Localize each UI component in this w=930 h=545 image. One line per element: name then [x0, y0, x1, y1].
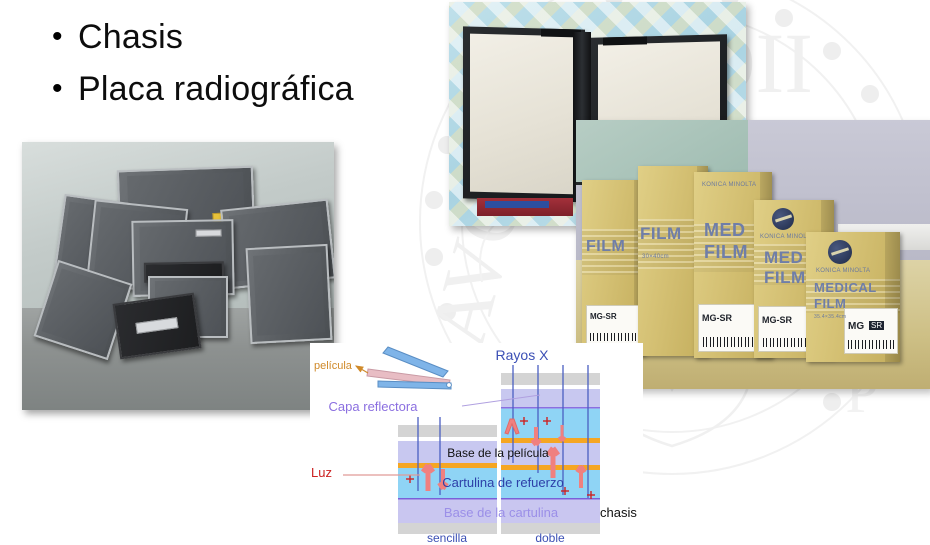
film-box-label: MG SR: [844, 308, 898, 354]
list-item: • Chasis: [52, 14, 452, 60]
cassette-clip: [603, 36, 647, 45]
label-pelicula: película: [314, 360, 353, 372]
film-box: KONICA MINOLTA MEDICAL FILM MG SR 35.4×3…: [806, 232, 900, 362]
list-item: • Placa radiográfica: [52, 66, 452, 112]
film-box: FILM MG-SR: [582, 180, 644, 355]
film-box-line2: FILM: [764, 268, 806, 288]
cassette-cross-section-diagram: película Rayos X: [310, 343, 643, 545]
film-box-product: MG-SR: [590, 312, 617, 321]
cassette-white-label: [196, 229, 222, 236]
photo-grey-cassettes: [22, 142, 334, 410]
label-capa-reflectora: Capa reflectora: [329, 399, 419, 414]
label-chasis: chasis: [600, 505, 637, 520]
film-box-line2: FILM: [814, 296, 846, 311]
label-luz: Luz: [311, 465, 332, 480]
film-box-size: 30×40cm: [642, 254, 669, 260]
konica-logo-icon: [828, 240, 852, 264]
film-box-label: MG-SR: [586, 305, 640, 345]
cassette-white-label: [135, 317, 178, 334]
cassette-left-half: [463, 26, 585, 201]
film-box-line2: FILM: [704, 242, 748, 263]
film-box-size: 35.4×35.4cm: [814, 314, 846, 320]
label-sencilla: sencilla: [427, 531, 467, 545]
label-doble: doble: [535, 531, 565, 545]
cassette-item: [113, 293, 202, 360]
film-box-brand: KONICA MINOLTA: [816, 268, 870, 274]
film-box-line2: FILM: [640, 224, 682, 244]
bullet-marker: •: [52, 66, 78, 112]
label-cartulina-refuerzo: Cartulina de refuerzo: [442, 475, 563, 490]
label-base-pelicula: Base de la película: [447, 446, 549, 460]
bullet-list: • Chasis • Placa radiográfica: [52, 14, 452, 118]
film-box-line1: MEDICAL: [814, 280, 877, 295]
bullet-label: Chasis: [78, 14, 183, 60]
film-box-product: MG: [848, 321, 864, 332]
film-box-product: MG-SR: [702, 313, 732, 323]
intensifying-screen: [470, 34, 578, 195]
film-box-product: MG-SR: [762, 315, 792, 325]
film-box-line1: MED: [704, 220, 746, 241]
bullet-marker: •: [52, 14, 78, 60]
label-rayos-x: Rayos X: [496, 347, 550, 363]
cassette-item: [246, 244, 333, 344]
film-box-product-sub: SR: [869, 321, 884, 330]
photo-blue-label: [485, 201, 549, 208]
label-base-cartulina: Base de la cartulina: [444, 505, 559, 520]
bullet-label: Placa radiográfica: [78, 66, 354, 112]
film-box-line2: FILM: [586, 238, 625, 256]
film-box-line1: MED: [764, 248, 803, 268]
film-box-brand: KONICA MINOLTA: [702, 182, 756, 188]
konica-logo-icon: [772, 208, 794, 230]
